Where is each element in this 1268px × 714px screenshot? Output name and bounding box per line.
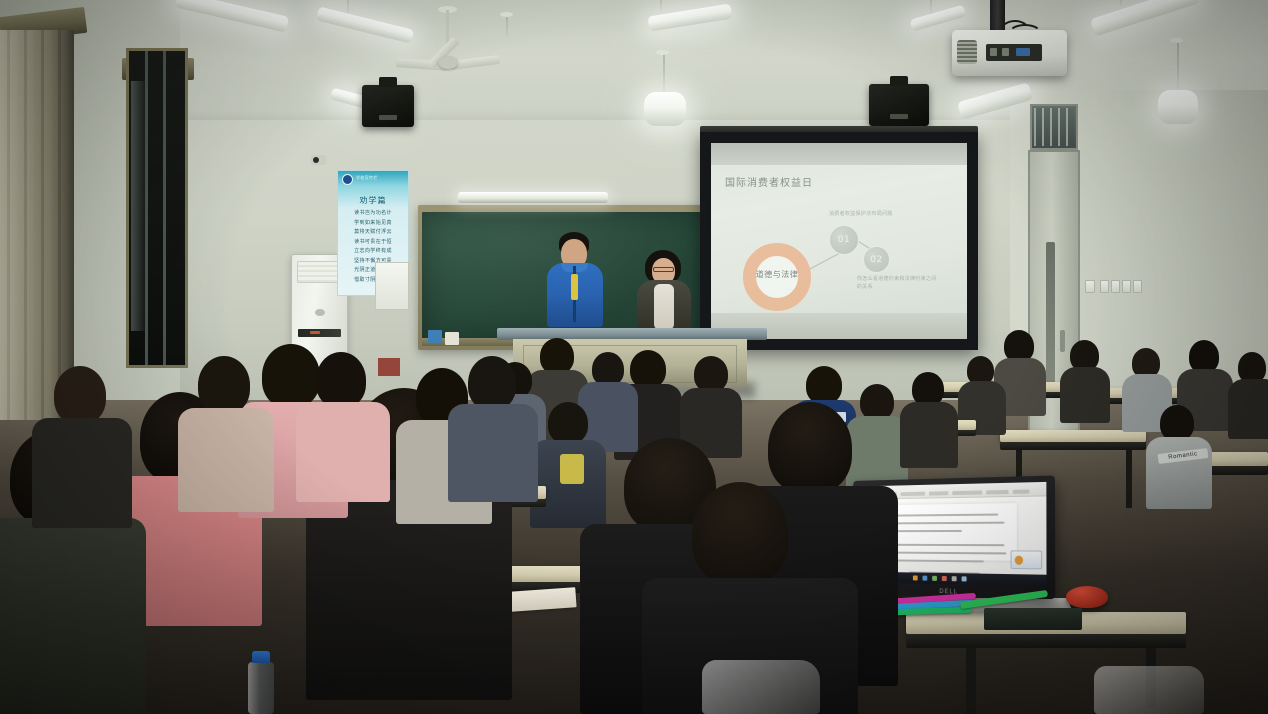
fluorescent-tube-light bbox=[1158, 90, 1198, 124]
slide-note-01: 消费者权益保护法布局问题 bbox=[829, 211, 925, 219]
speaker-bracket bbox=[379, 77, 397, 87]
poster-line: 学到如来始见真 bbox=[338, 219, 408, 229]
screen-top-band bbox=[711, 143, 967, 165]
student-body bbox=[448, 404, 538, 502]
chalk-box bbox=[428, 330, 442, 343]
poster-line: 莫将天赋付浮云 bbox=[338, 228, 408, 238]
document-page[interactable] bbox=[883, 503, 1017, 561]
light-rod bbox=[1120, 0, 1122, 8]
desk-edge bbox=[1000, 442, 1146, 450]
document-text-line bbox=[889, 522, 1004, 525]
chalk-box bbox=[445, 332, 459, 345]
student-body bbox=[900, 402, 958, 468]
student-head bbox=[316, 352, 366, 408]
taskbar-icon[interactable] bbox=[913, 575, 918, 580]
ribbon-control[interactable] bbox=[986, 490, 1008, 495]
door-panel-slot bbox=[1046, 242, 1055, 387]
document-text-line bbox=[889, 559, 984, 562]
student-head bbox=[630, 350, 666, 388]
student-head bbox=[1160, 405, 1194, 441]
backpack-accent bbox=[560, 454, 584, 484]
student-head bbox=[592, 352, 624, 386]
left-window bbox=[126, 48, 188, 368]
student-head bbox=[468, 356, 516, 410]
poster-line: 读书岂为功名计 bbox=[338, 209, 408, 219]
student-head bbox=[768, 402, 852, 494]
student-head bbox=[860, 384, 894, 420]
taskbar-icon[interactable] bbox=[962, 576, 967, 581]
ribbon-control[interactable] bbox=[929, 491, 948, 495]
transom-bars bbox=[1034, 108, 1074, 146]
document-text-line bbox=[892, 544, 1004, 546]
taskbar-icon[interactable] bbox=[922, 576, 927, 581]
light-rod bbox=[660, 0, 662, 14]
light-switch[interactable] bbox=[1100, 280, 1109, 293]
notebook-on-desk[interactable] bbox=[984, 608, 1082, 630]
poster-org: 学校宣传栏 bbox=[356, 175, 378, 181]
student-body bbox=[0, 518, 146, 714]
poster-line: 读书可贵在于恒 bbox=[338, 238, 408, 248]
poster-line: 立志向学终有成 bbox=[338, 247, 408, 257]
student-body bbox=[846, 416, 908, 488]
student-head bbox=[694, 356, 728, 392]
taskbar-icon[interactable] bbox=[942, 576, 947, 581]
fluorescent-tube-light bbox=[644, 92, 686, 126]
student-head bbox=[912, 372, 944, 406]
light-rod bbox=[1177, 42, 1179, 92]
plastic-bag[interactable] bbox=[702, 660, 820, 714]
diagram-node-02: 02 bbox=[863, 246, 890, 273]
water-bottle[interactable] bbox=[248, 662, 274, 714]
diagram-connector bbox=[809, 253, 839, 270]
document-text-line bbox=[893, 514, 998, 517]
ceiling-projector bbox=[952, 30, 1067, 76]
classroom-photo: 学校宣传栏 劝学篇 读书岂为功名计 学到如来始见真 莫将天赋付浮云 读书可贵在于… bbox=[0, 0, 1268, 714]
diagram-node-01: 01 bbox=[829, 225, 859, 255]
poster-badge-icon bbox=[342, 174, 353, 185]
blackboard-light bbox=[458, 192, 608, 203]
document-text-line bbox=[889, 552, 1007, 555]
student-head bbox=[548, 402, 588, 444]
speaker-label bbox=[379, 115, 397, 120]
student-head bbox=[692, 482, 788, 586]
taskbar-icon[interactable] bbox=[952, 576, 957, 581]
wall-sign-red bbox=[378, 358, 400, 376]
light-switch-panel[interactable] bbox=[1100, 280, 1142, 293]
student-head bbox=[198, 356, 250, 414]
ac-logo bbox=[315, 309, 325, 316]
projection-screen: 国际消费者权益日 消费者权益保护法布局问题 道德与法律 01 02 你怎么看道德… bbox=[711, 143, 967, 339]
presenter-inner-top bbox=[654, 284, 674, 330]
plastic-bag[interactable] bbox=[1094, 666, 1204, 714]
light-rod bbox=[506, 14, 508, 36]
light-switch[interactable] bbox=[1085, 280, 1095, 293]
slide-title: 国际消费者权益日 bbox=[725, 174, 813, 189]
wall-speaker bbox=[869, 84, 929, 126]
fan-rod bbox=[446, 10, 449, 44]
student-head bbox=[540, 338, 574, 374]
light-cap bbox=[656, 50, 669, 55]
speaker-bracket bbox=[890, 76, 908, 86]
poster-title: 劝学篇 bbox=[338, 195, 408, 206]
desk-leg bbox=[1126, 450, 1132, 508]
light-switch[interactable] bbox=[1133, 280, 1142, 293]
speaker-label bbox=[890, 114, 908, 119]
bottle-cap bbox=[252, 651, 270, 663]
ac-grille bbox=[297, 261, 342, 283]
light-switch[interactable] bbox=[1122, 280, 1131, 293]
slide-note-02: 你怎么看道德约束和法律约束之间的关系 bbox=[857, 276, 937, 291]
projector-port bbox=[1002, 48, 1009, 56]
ac-display-panel bbox=[298, 329, 341, 337]
student-body bbox=[1228, 379, 1268, 439]
projector-vent bbox=[957, 40, 977, 64]
presenter-tie bbox=[571, 274, 578, 300]
computer-mouse[interactable] bbox=[1066, 586, 1108, 608]
taskbar-icon[interactable] bbox=[932, 576, 937, 581]
light-switch[interactable] bbox=[1111, 280, 1120, 293]
security-camera bbox=[311, 155, 326, 165]
student-head bbox=[54, 366, 106, 424]
student-body bbox=[1060, 367, 1110, 423]
student-body bbox=[178, 408, 274, 512]
window-curtain bbox=[0, 30, 74, 420]
window-mullion bbox=[145, 51, 148, 365]
ribbon-control[interactable] bbox=[1013, 490, 1030, 494]
projector-port bbox=[990, 48, 997, 56]
light-cap bbox=[1170, 38, 1183, 43]
wall-notice bbox=[375, 262, 409, 310]
ribbon-control[interactable] bbox=[952, 491, 982, 496]
projector-port bbox=[1016, 48, 1030, 56]
door-handle[interactable] bbox=[1060, 330, 1065, 352]
light-cap bbox=[500, 12, 513, 17]
fan-hub bbox=[438, 56, 458, 69]
presenter-glasses bbox=[653, 267, 674, 272]
window-mullion bbox=[163, 51, 166, 365]
light-rod bbox=[663, 54, 665, 96]
student-head bbox=[806, 366, 842, 404]
document-text-line bbox=[889, 530, 962, 532]
diagram-center-label: 道德与法律 bbox=[745, 269, 809, 280]
door-transom-window bbox=[1030, 104, 1078, 150]
ribbon-control[interactable] bbox=[901, 492, 926, 496]
ceiling-fan bbox=[400, 42, 496, 82]
notification-popup[interactable] bbox=[1011, 550, 1043, 569]
student-body bbox=[32, 418, 132, 528]
male-presenter bbox=[547, 232, 603, 327]
desk-leg bbox=[966, 648, 976, 714]
student-head bbox=[262, 344, 320, 408]
wall-speaker bbox=[362, 85, 414, 127]
desk-edge bbox=[906, 634, 1186, 648]
student-body bbox=[296, 402, 390, 502]
